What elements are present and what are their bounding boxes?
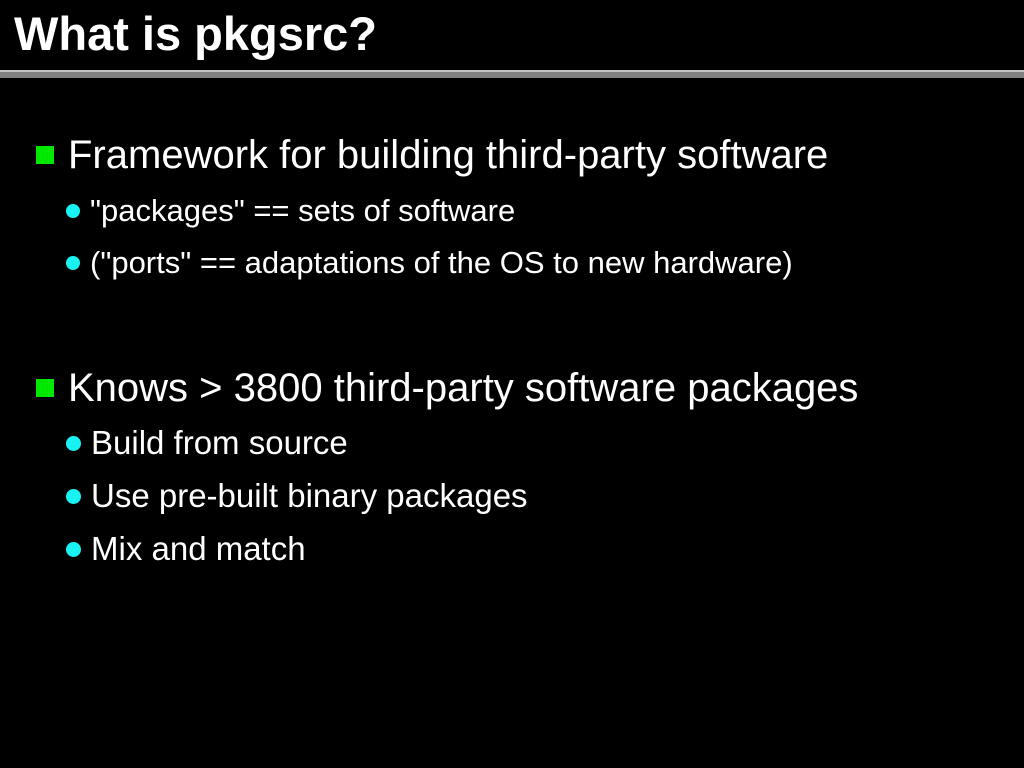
- presentation-slide: What is pkgsrc? Framework for building t…: [0, 0, 1024, 768]
- bullet-level2-label: Mix and match: [91, 527, 306, 571]
- bullet-level1-label: Framework for building third-party softw…: [68, 130, 828, 180]
- slide-header: What is pkgsrc?: [0, 0, 1024, 78]
- bullet-level1: Knows > 3800 third-party software packag…: [0, 363, 1024, 417]
- bullet-level2-label: Use pre-built binary packages: [91, 474, 528, 518]
- bullet-level2: Use pre-built binary packages: [0, 474, 1024, 527]
- cyan-dot-bullet-icon: [66, 436, 81, 451]
- cyan-dot-bullet-icon: [66, 489, 81, 504]
- bullet-level1: Framework for building third-party softw…: [0, 130, 1024, 184]
- page-title: What is pkgsrc?: [14, 6, 377, 62]
- bullet-group-knows: Knows > 3800 third-party software packag…: [0, 363, 1024, 580]
- green-square-bullet-icon: [36, 379, 54, 397]
- bullet-level2: "packages" == sets of software: [0, 190, 1024, 242]
- cyan-dot-bullet-icon: [66, 542, 81, 557]
- bullet-level2: ("ports" == adaptations of the OS to new…: [0, 242, 1024, 294]
- sub-bullet-list: Build from source Use pre-built binary p…: [0, 421, 1024, 580]
- bullet-group-framework: Framework for building third-party softw…: [0, 130, 1024, 294]
- sub-bullet-list: "packages" == sets of software ("ports" …: [0, 190, 1024, 294]
- bullet-level2: Mix and match: [0, 527, 1024, 580]
- bullet-level1-label: Knows > 3800 third-party software packag…: [68, 363, 858, 413]
- title-divider: [0, 70, 1024, 78]
- bullet-level2: Build from source: [0, 421, 1024, 474]
- slide-body: Framework for building third-party softw…: [0, 78, 1024, 768]
- cyan-dot-bullet-icon: [66, 256, 80, 270]
- green-square-bullet-icon: [36, 146, 54, 164]
- bullet-level2-label: "packages" == sets of software: [90, 190, 515, 232]
- bullet-level2-label: ("ports" == adaptations of the OS to new…: [90, 242, 793, 284]
- bullet-level2-label: Build from source: [91, 421, 348, 465]
- cyan-dot-bullet-icon: [66, 204, 80, 218]
